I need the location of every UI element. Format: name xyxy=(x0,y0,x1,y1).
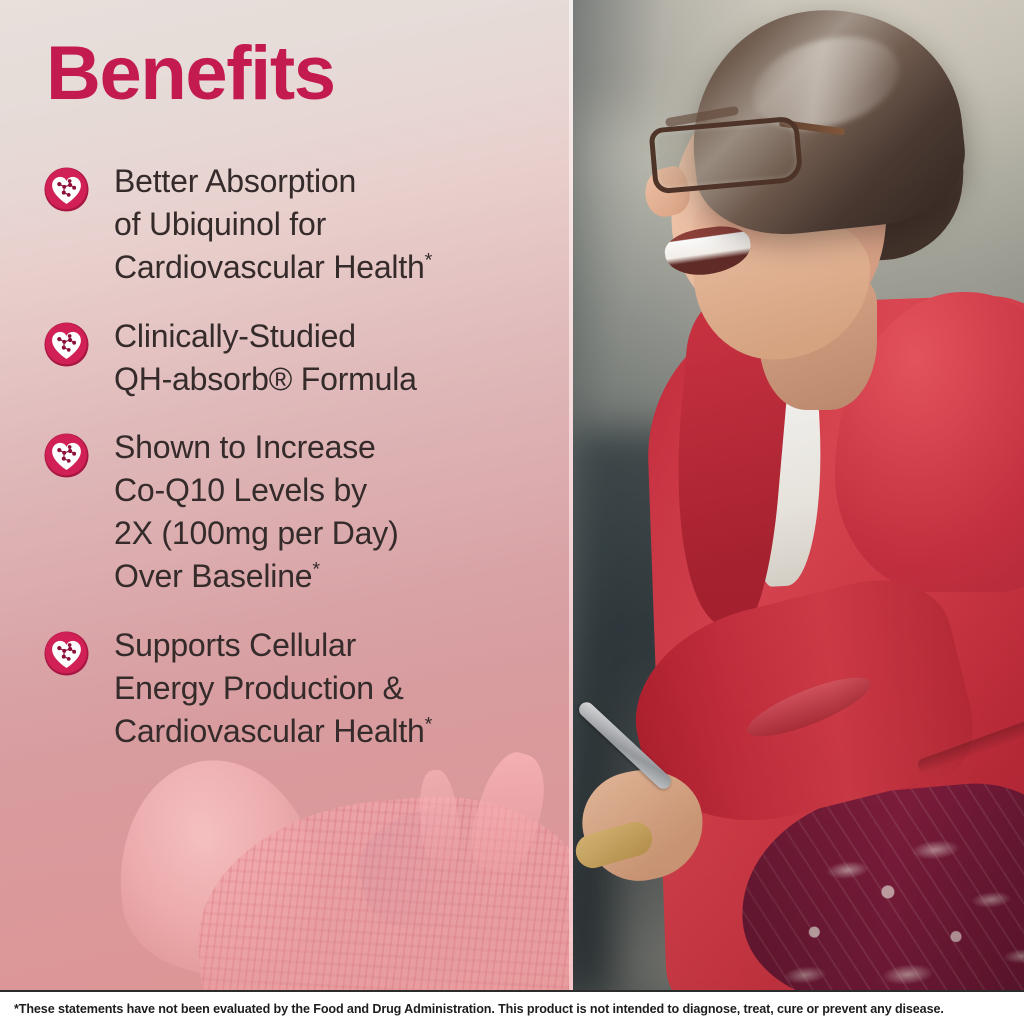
disclaimer-bar: *These statements have not been evaluate… xyxy=(0,990,1024,1024)
disclaimer-text: *These statements have not been evaluate… xyxy=(0,1002,944,1016)
glasses-icon xyxy=(648,116,803,195)
list-item-label: Clinically-Studied QH-absorb® Formula xyxy=(114,315,417,401)
heart-molecule-icon xyxy=(44,322,89,367)
lifestyle-photo xyxy=(573,0,1024,990)
page-title: Benefits xyxy=(46,36,335,112)
list-item-label: Shown to Increase Co-Q10 Levels by 2X (1… xyxy=(114,426,399,598)
heart-molecule-icon xyxy=(44,433,89,478)
benefits-panel: Benefits xyxy=(0,0,573,990)
benefits-infographic: Benefits xyxy=(0,0,1024,1024)
list-item: Better Absorption of Ubiquinol for Cardi… xyxy=(44,160,564,289)
list-item: Supports Cellular Energy Production & Ca… xyxy=(44,624,564,753)
footnote-marker: * xyxy=(425,249,433,271)
list-item-label: Better Absorption of Ubiquinol for Cardi… xyxy=(114,160,432,289)
list-item: Shown to Increase Co-Q10 Levels by 2X (1… xyxy=(44,426,564,598)
list-item-label: Supports Cellular Energy Production & Ca… xyxy=(114,624,432,753)
footnote-marker: * xyxy=(425,713,433,735)
heart-molecule-icon xyxy=(44,631,89,676)
footnote-marker: * xyxy=(312,558,320,580)
heart-molecule-icon xyxy=(44,167,89,212)
benefits-list: Better Absorption of Ubiquinol for Cardi… xyxy=(44,160,564,779)
list-item: Clinically-Studied QH-absorb® Formula xyxy=(44,315,564,401)
